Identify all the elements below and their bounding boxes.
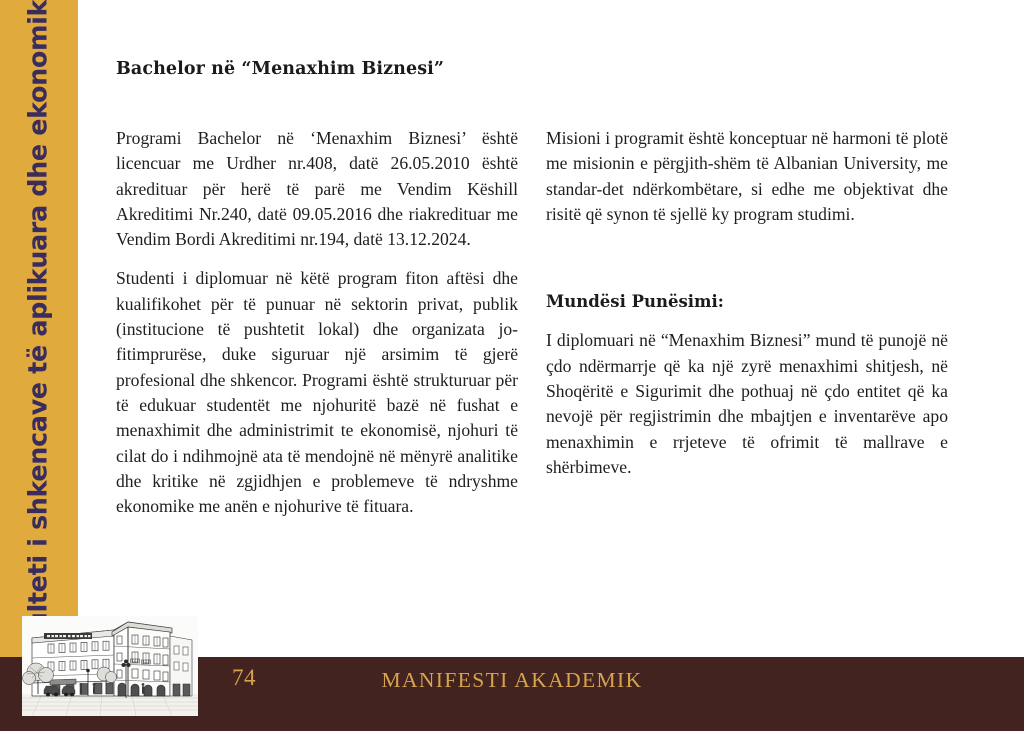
page-title: Bachelor në “Menaxhim Biznesi” [116,59,444,79]
building-illustration [22,616,198,716]
subheading-employment: Mundësi Punësimi: [546,289,948,314]
body-column-right: Misioni i programit është konceptuar në … [546,126,948,480]
body-column-left: Programi Bachelor në ‘Menaxhim Biznesi’ … [116,126,518,519]
paragraph-employment: I diplomuari në “Menaxhim Biznesi” mund … [546,328,948,480]
paragraph-program-accreditation: Programi Bachelor në ‘Menaxhim Biznesi’ … [116,126,518,252]
faculty-side-bar: fakulteti i shkencave të aplikuara dhe e… [0,0,78,657]
paragraph-graduate-profile: Studenti i diplomuar në këtë program fit… [116,266,518,519]
document-page: fakulteti i shkencave të aplikuara dhe e… [0,0,1024,731]
column-spacer [546,227,948,289]
faculty-side-label: fakulteti i shkencave të aplikuara dhe e… [26,0,52,674]
paragraph-mission: Misioni i programit është konceptuar në … [546,126,948,227]
